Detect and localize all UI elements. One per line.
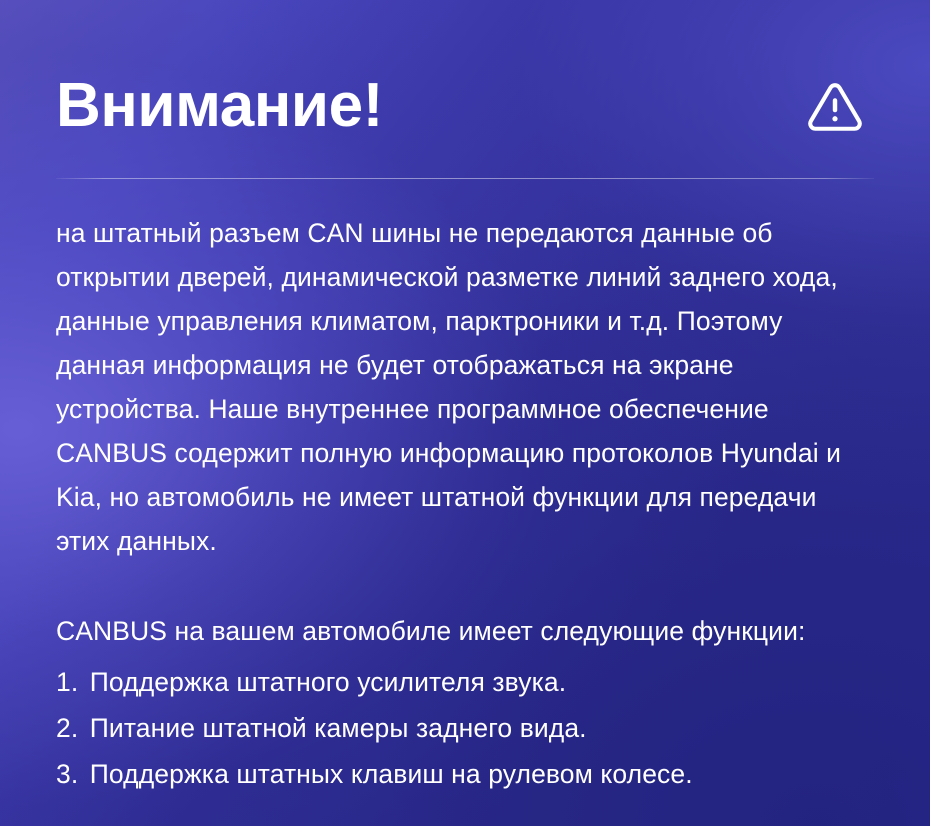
list-item-number: 3. (56, 759, 78, 789)
list-item-number: 1. (56, 667, 78, 697)
list-item-label: Поддержка штатных клавиш на рулевом коле… (90, 759, 693, 789)
warning-triangle-icon (804, 75, 866, 137)
list-item-label: Питание штатной камеры заднего вида. (90, 713, 587, 743)
banner-inner: Внимание! на штатный разъем CAN шины не … (0, 0, 930, 797)
banner-body: на штатный разъем CAN шины не передаются… (56, 179, 874, 797)
banner-header: Внимание! (56, 0, 874, 178)
list-item: 2. Питание штатной камеры заднего вида. (56, 705, 874, 751)
list-item-number: 2. (56, 713, 78, 743)
functions-list: 1. Поддержка штатного усилителя звука. 2… (56, 659, 874, 797)
list-item: 1. Поддержка штатного усилителя звука. (56, 659, 874, 705)
functions-list-intro: CANBUS на вашем автомобиле имеет следующ… (56, 609, 874, 653)
list-item-label: Поддержка штатного усилителя звука. (90, 667, 566, 697)
list-item: 3. Поддержка штатных клавиш на рулевом к… (56, 751, 874, 797)
page-title: Внимание! (56, 73, 383, 138)
paragraph-can-limitations: на штатный разъем CAN шины не передаются… (56, 211, 874, 563)
warning-banner: Внимание! на штатный разъем CAN шины не … (0, 0, 930, 826)
